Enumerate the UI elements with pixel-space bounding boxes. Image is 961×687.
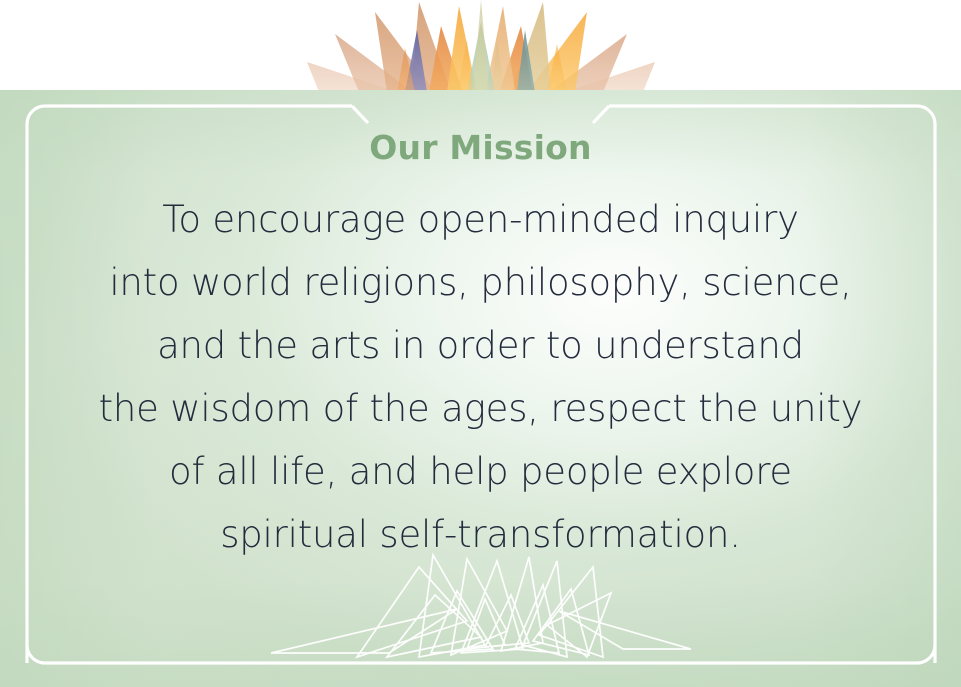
mission-line: and the arts in order to understand (40, 314, 921, 377)
mission-line: the wisdom of the ages, respect the unit… (40, 377, 921, 440)
logo-band (0, 0, 961, 90)
mission-line: of all life, and help people explore (40, 440, 921, 503)
page-title: Our Mission (0, 90, 961, 166)
mission-statement: To encourage open-minded inquiry into wo… (0, 166, 961, 566)
sunburst-logo-icon (301, 0, 661, 90)
mission-line: To encourage open-minded inquiry (40, 188, 921, 251)
mission-line: into world religions, philosophy, scienc… (40, 251, 921, 314)
mission-line: spiritual self-transformation. (40, 503, 921, 566)
mission-poster: Our Mission To encourage open-minded inq… (0, 0, 961, 687)
